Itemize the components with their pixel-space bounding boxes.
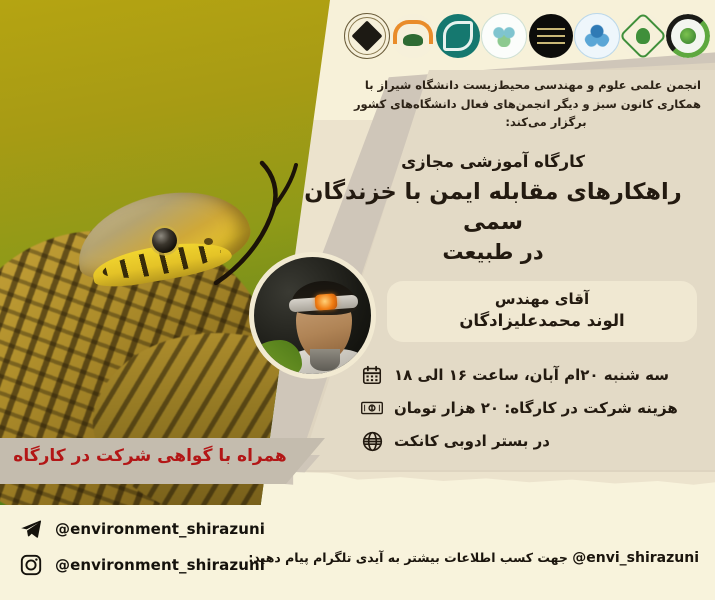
page-subtitle: در طبیعت bbox=[283, 240, 703, 264]
telegram-icon[interactable] bbox=[18, 516, 44, 542]
detail-row-price: هزینه شرکت در کارگاه: ۲۰ هزار تومان bbox=[359, 395, 699, 421]
snake-eye bbox=[152, 228, 177, 253]
social-row-instagram[interactable]: @environment_shirazuni bbox=[18, 552, 265, 578]
speaker-badge: آقای مهندس الوند محمدعلیزادگان bbox=[387, 281, 697, 342]
logo-green-leaf-frame bbox=[621, 14, 665, 58]
logo-black-emblem bbox=[529, 14, 573, 58]
footer-contact-note: @envi_shirazuni جهت کسب اطلاعات بیشتر به… bbox=[248, 550, 699, 566]
poster-canvas: انجمن علمی علوم و مهندسی محیط‌زیست دانشگ… bbox=[0, 0, 715, 600]
logo-green-foundation bbox=[391, 14, 435, 58]
detail-text-price: هزینه شرکت در کارگاه: ۲۰ هزار تومان bbox=[394, 399, 678, 417]
social-row-telegram[interactable]: @environment_shirazuni bbox=[18, 516, 265, 542]
logo-blue-flower bbox=[574, 13, 620, 59]
detail-text-date: سه شنبه ۲۰ام آبان، ساعت ۱۶ الی ۱۸ bbox=[394, 366, 669, 384]
money-icon bbox=[359, 395, 385, 421]
logo-recycle-earth bbox=[666, 14, 710, 58]
organizer-intro-line-2: همکاری کانون سبز و دیگر انجمن‌های فعال د… bbox=[391, 95, 701, 114]
globe-icon bbox=[359, 428, 385, 454]
speaker-role: آقای مهندس bbox=[403, 289, 681, 309]
detail-text-platform: در بستر ادوبی کانکت bbox=[394, 432, 550, 450]
page-title: راهکارهای مقابله ایمن با خزندگان سمی bbox=[283, 177, 703, 237]
instagram-icon[interactable] bbox=[18, 552, 44, 578]
organizer-intro-line-3: برگزار می‌کند: bbox=[391, 113, 701, 132]
logo-shiraz-university bbox=[344, 13, 390, 59]
speaker-avatar bbox=[249, 252, 376, 379]
telegram-handle[interactable]: @environment_shirazuni bbox=[55, 520, 265, 538]
footer-note-text: جهت کسب اطلاعات بیشتر به آیدی تلگرام پیا… bbox=[248, 550, 568, 565]
event-details: سه شنبه ۲۰ام آبان، ساعت ۱۶ الی ۱۸ هزینه … bbox=[359, 362, 699, 461]
logo-teal-environment bbox=[436, 14, 480, 58]
logo-white-network bbox=[481, 13, 527, 59]
headlamp-icon bbox=[314, 293, 337, 310]
footer-telegram-handle[interactable]: @envi_shirazuni bbox=[572, 550, 699, 566]
title-block: کارگاه آموزشی مجازی راهکارهای مقابله ایم… bbox=[283, 152, 703, 264]
detail-row-date: سه شنبه ۲۰ام آبان، ساعت ۱۶ الی ۱۸ bbox=[359, 362, 699, 388]
organizer-intro: انجمن علمی علوم و مهندسی محیط‌زیست دانشگ… bbox=[391, 76, 701, 132]
speaker-collar bbox=[310, 349, 340, 371]
speaker-name: الوند محمدعلیزادگان bbox=[403, 309, 681, 332]
partner-logo-strip bbox=[344, 8, 710, 64]
workshop-kicker: کارگاه آموزشی مجازی bbox=[283, 152, 703, 171]
instagram-handle[interactable]: @environment_shirazuni bbox=[55, 556, 265, 574]
foliage-accent bbox=[250, 340, 302, 379]
certificate-note: همراه با گواهی شرکت در کارگاه bbox=[0, 446, 300, 466]
social-links: @environment_shirazuni @environment_shir… bbox=[18, 516, 265, 578]
calendar-icon bbox=[359, 362, 385, 388]
detail-row-platform: در بستر ادوبی کانکت bbox=[359, 428, 699, 454]
organizer-intro-line-1: انجمن علمی علوم و مهندسی محیط‌زیست دانشگ… bbox=[391, 76, 701, 95]
